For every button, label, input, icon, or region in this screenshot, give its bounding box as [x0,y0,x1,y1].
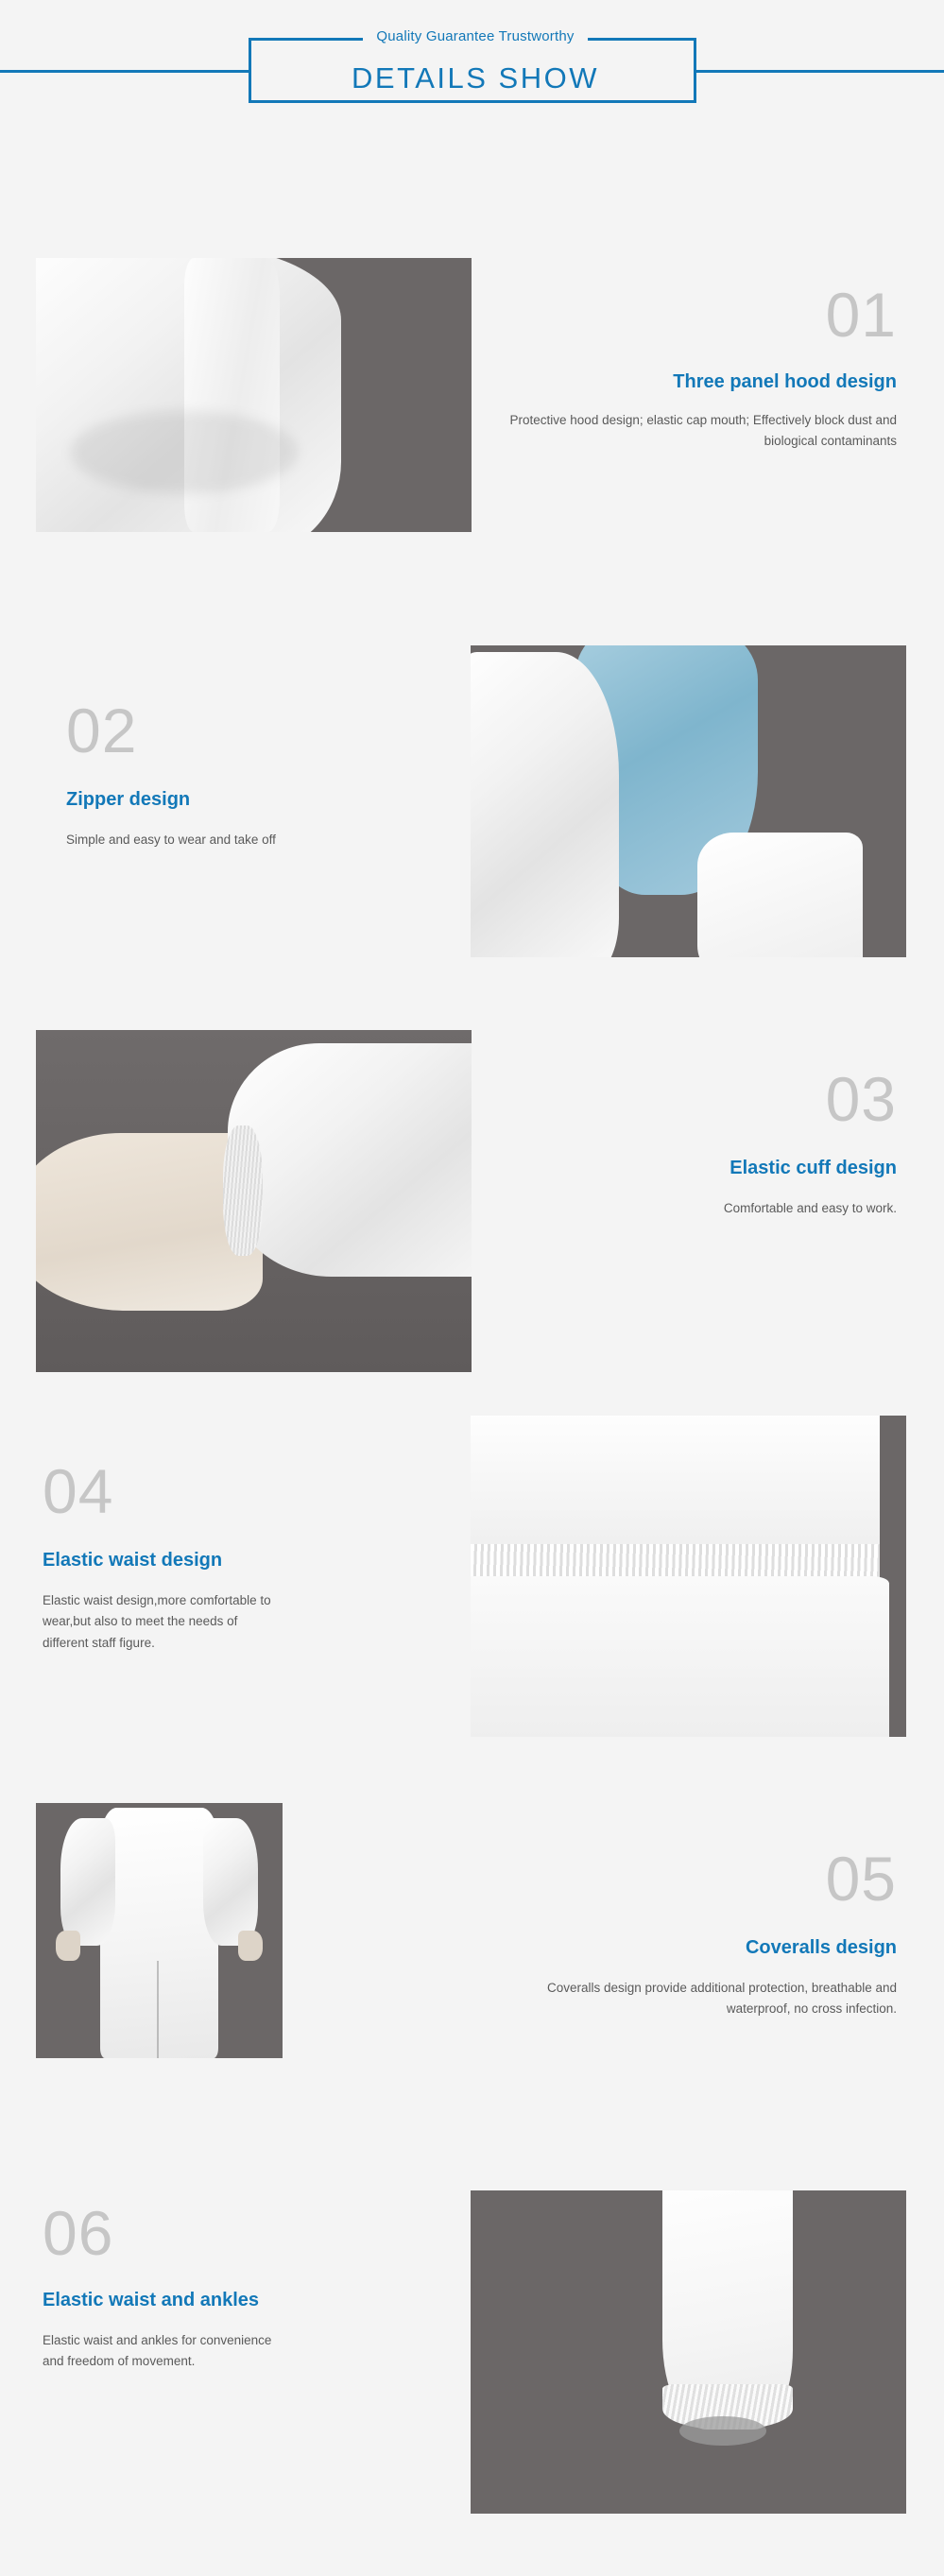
section-number-01: 01 [509,283,897,346]
section-image-05 [36,1803,283,2058]
section-image-06 [471,2190,906,2514]
section-heading-03: Elastic cuff design [509,1157,897,1179]
section-heading-06: Elastic waist and ankles [43,2289,439,2311]
collar-fabric-shape [697,833,863,957]
section-text-06: 06 Elastic waist and ankles Elastic wais… [43,2202,439,2373]
section-description-06: Elastic waist and ankles for convenience… [43,2330,288,2373]
hood-shadow [71,411,298,493]
skirt-fabric-shape [471,1576,889,1737]
section-number-04: 04 [43,1460,439,1522]
coverall-leg-split [157,1961,159,2058]
header-eyebrow: Quality Guarantee Trustworthy [251,28,699,45]
section-description-03: Comfortable and easy to work. [509,1198,897,1219]
section-description-01: Protective hood design; elastic cap mout… [509,410,897,453]
sleeve-fabric-shape [228,1043,472,1276]
coverall-left-glove [56,1931,80,1961]
coverall-left-sleeve [60,1818,114,1946]
coverall-right-glove [238,1931,263,1961]
header-rule-right [696,70,944,73]
section-description-04: Elastic waist design,more comfortable to… [43,1590,283,1654]
elastic-cuff-band [223,1125,262,1256]
section-image-01 [36,258,472,532]
coverall-body-shape [100,1808,218,2058]
section-heading-02: Zipper design [66,788,444,811]
section-text-03: 03 Elastic cuff design Comfortable and e… [509,1068,897,1219]
header-rule-left [0,70,249,73]
shoulder-fabric-shape [471,652,619,957]
page-header: Quality Guarantee Trustworthy DETAILS SH… [0,0,944,151]
section-text-05: 05 Coveralls design Coveralls design pro… [509,1847,897,2020]
header-eyebrow-text: Quality Guarantee Trustworthy [363,28,587,44]
section-description-02: Simple and easy to wear and take off [66,830,444,850]
section-heading-01: Three panel hood design [509,370,897,393]
section-number-05: 05 [509,1847,897,1910]
section-number-03: 03 [509,1068,897,1130]
coverall-right-sleeve [203,1818,257,1946]
details-show-page: Quality Guarantee Trustworthy DETAILS SH… [0,0,944,2576]
section-heading-05: Coveralls design [509,1936,897,1959]
section-image-04b [471,1416,906,1737]
section-text-01: 01 Three panel hood design Protective ho… [509,283,897,453]
section-image-03 [36,1030,472,1372]
section-description-05: Coveralls design provide additional prot… [509,1978,897,2020]
section-number-06: 06 [43,2202,439,2264]
section-heading-04: Elastic waist design [43,1549,439,1571]
title-box: Quality Guarantee Trustworthy DETAILS SH… [249,38,696,103]
section-number-02: 02 [66,699,444,762]
page-title: DETAILS SHOW [251,61,699,95]
section-text-04: 04 Elastic waist design Elastic waist de… [43,1460,439,1654]
section-image-02 [471,645,906,957]
section-text-02: 02 Zipper design Simple and easy to wear… [66,699,444,850]
